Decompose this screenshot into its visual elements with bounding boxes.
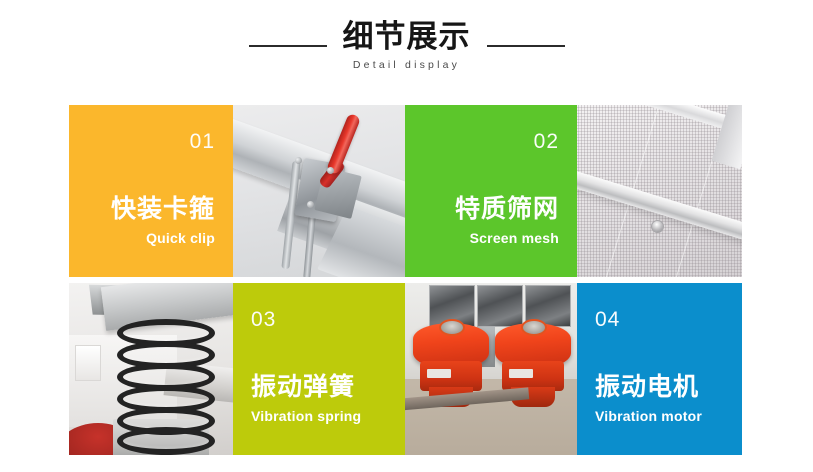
motor-hub-shape [521, 319, 547, 336]
card-number-04: 04 [595, 309, 620, 330]
spring-coil-shape [117, 427, 215, 455]
card-title-en-04: Vibration motor [595, 409, 702, 423]
card-number-02: 02 [534, 131, 559, 152]
vibration-motor-photo [405, 283, 577, 455]
card-title-cn-01: 快装卡箍 [111, 196, 215, 222]
card-number-01: 01 [190, 131, 215, 152]
caption-card-01[interactable]: 01 快装卡箍 Quick clip [69, 105, 233, 277]
card-title-en-02: Screen mesh [470, 231, 559, 245]
clamp-pin-shape [307, 201, 314, 208]
card-title-cn-03: 振动弹簧 [251, 374, 355, 400]
panel-tab-shape [75, 345, 101, 381]
card-title-cn-02: 特质筛网 [455, 196, 559, 222]
screen-mesh-photo [577, 105, 742, 277]
left-rule-decoration [249, 45, 327, 47]
card-number-03: 03 [251, 309, 276, 330]
clamp-pin-shape [295, 157, 302, 164]
page-header: 细节展示 Detail display [0, 0, 813, 100]
clamp-pin-shape [327, 167, 334, 174]
caption-card-02[interactable]: 02 特质筛网 Screen mesh [405, 105, 577, 277]
title-block: 细节展示 Detail display [343, 22, 471, 71]
header-inner: 细节展示 Detail display [249, 22, 565, 71]
quick-clip-photo [233, 105, 405, 277]
detail-grid: 01 快装卡箍 Quick clip 02 特质筛网 Screen mesh [69, 105, 742, 455]
motor-hub-shape [439, 319, 465, 336]
vibration-spring-photo [69, 283, 233, 455]
motor-nameplate-shape [427, 369, 451, 378]
card-title-en-01: Quick clip [146, 231, 215, 245]
motor-nameplate-shape [509, 369, 533, 378]
card-title-en-03: Vibration spring [251, 409, 361, 423]
page-title: 细节展示 [343, 22, 471, 53]
caption-card-03[interactable]: 03 振动弹簧 Vibration spring [233, 283, 405, 455]
page-subtitle: Detail display [353, 60, 460, 71]
card-title-cn-04: 振动电机 [595, 374, 699, 400]
right-rule-decoration [487, 45, 565, 47]
caption-card-04[interactable]: 04 振动电机 Vibration motor [577, 283, 742, 455]
